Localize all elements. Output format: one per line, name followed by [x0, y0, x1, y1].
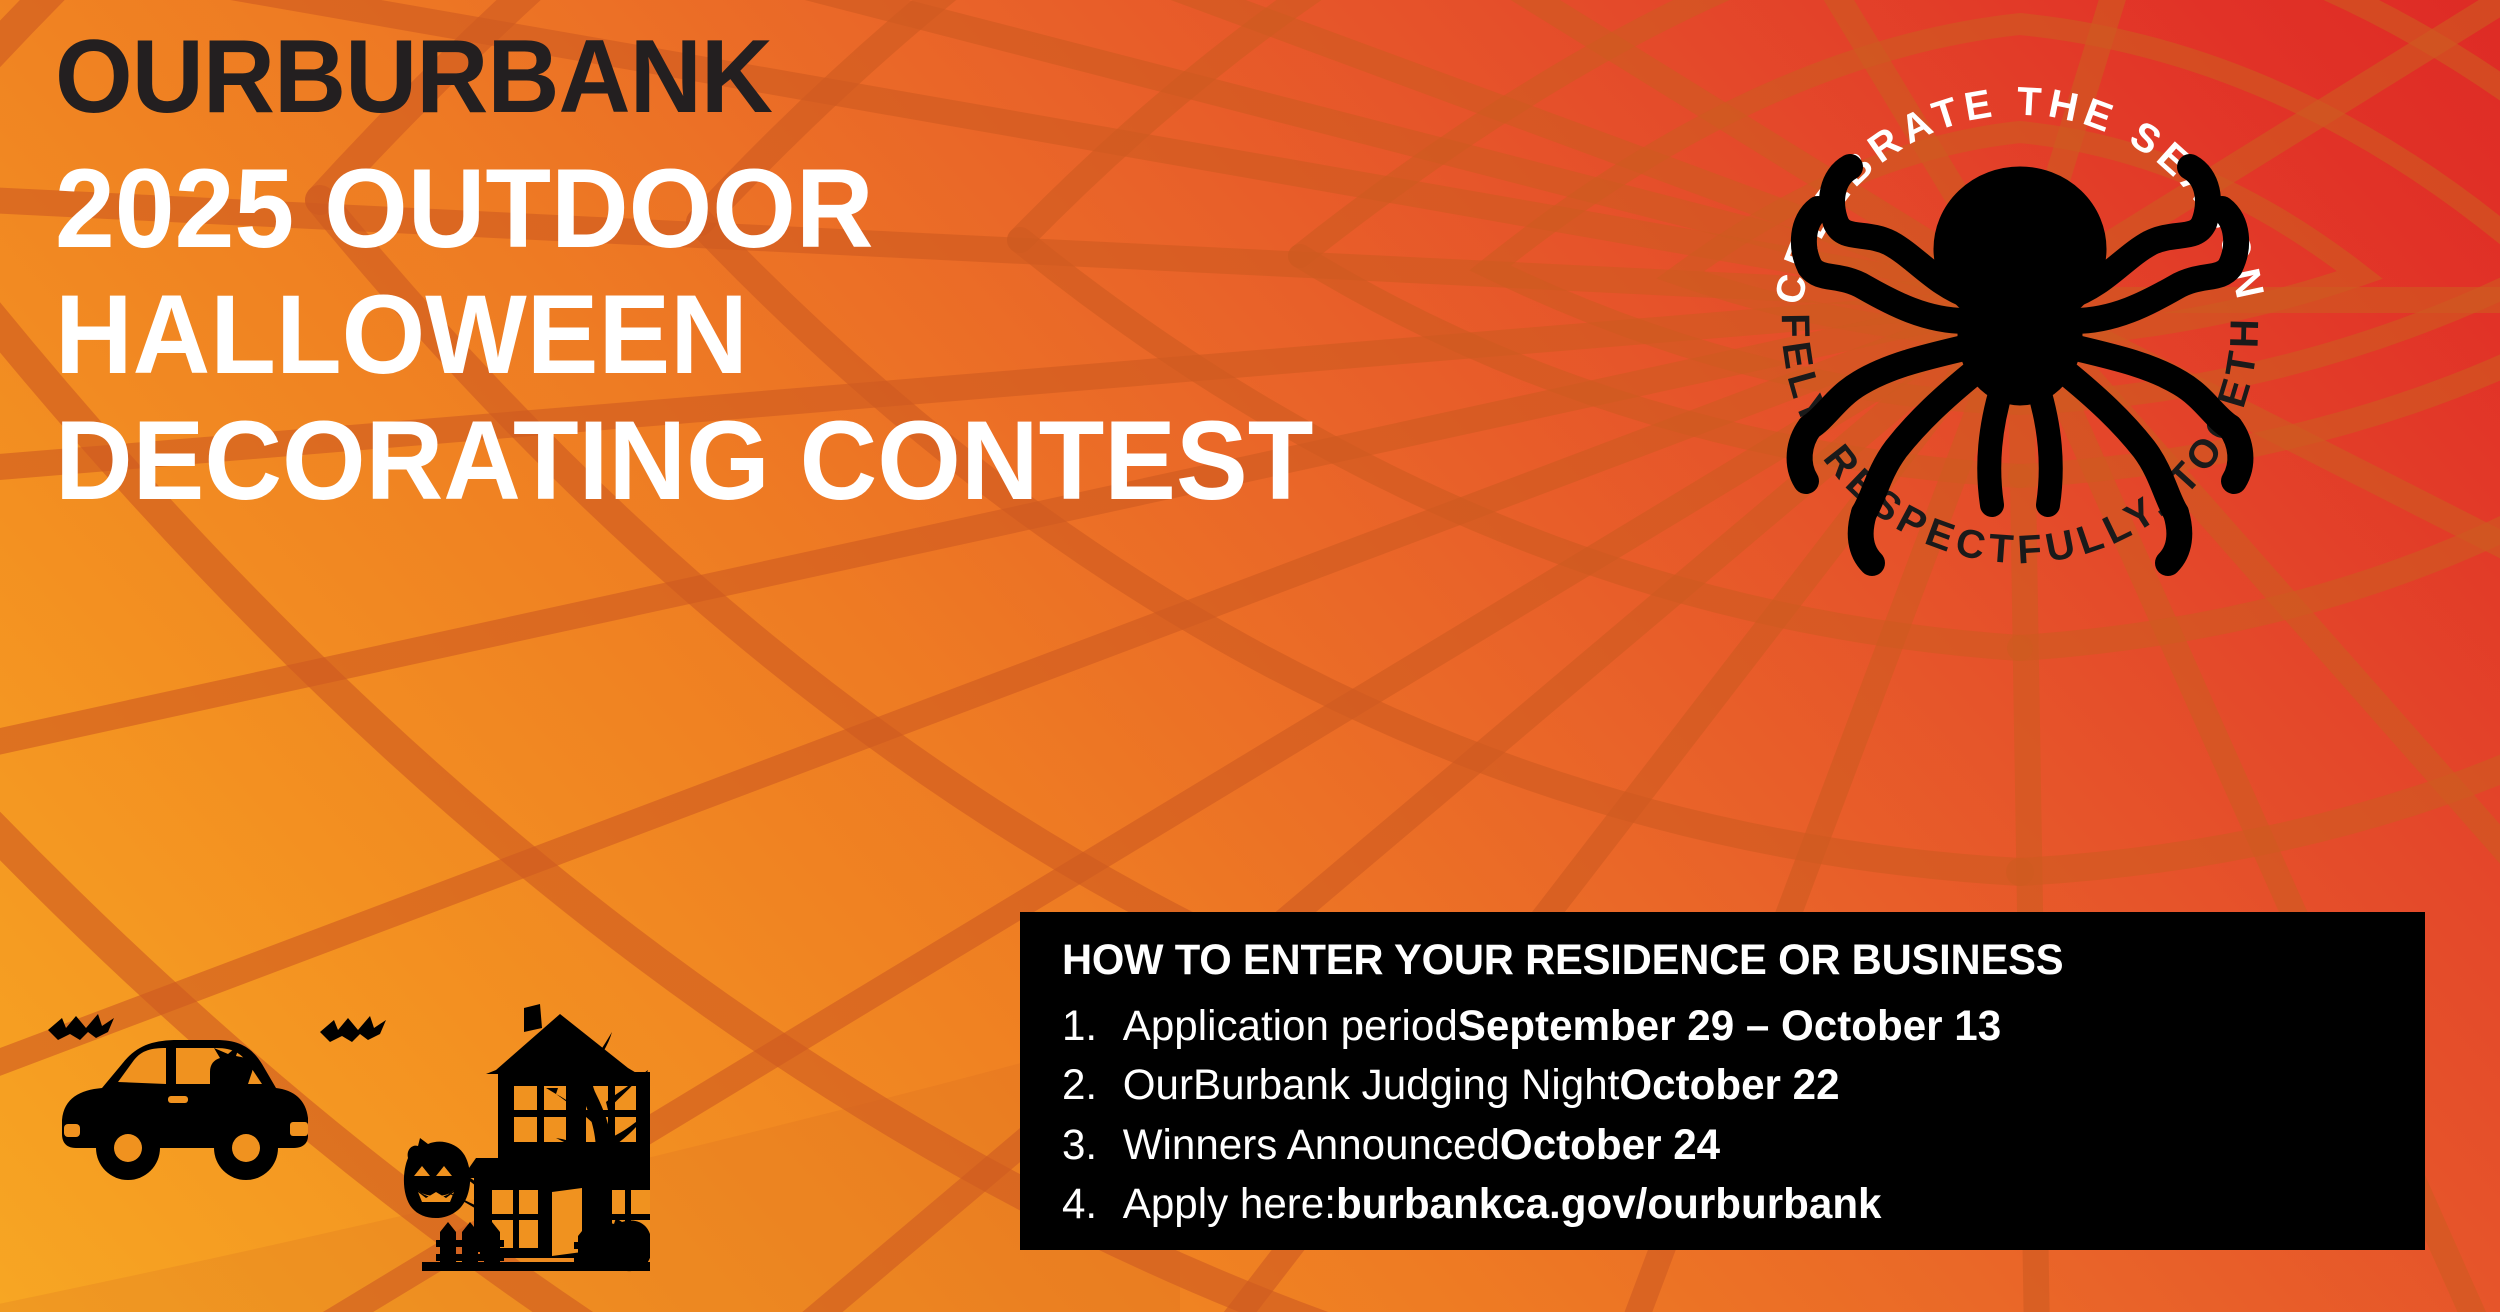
brand-title: OURBURBANK — [55, 22, 1687, 133]
bat-icon — [48, 1014, 114, 1040]
celebrate-the-season-badge: CELEBRATE THE SEASON SAFELY, RESPECTFULL… — [1740, 35, 2300, 595]
step-emphasis: October 24 — [1500, 1116, 1720, 1175]
list-item: 1. Application period September 29 – Oct… — [1062, 997, 2398, 1056]
step-number: 4. — [1062, 1175, 1123, 1234]
car-with-witch-icon — [62, 1040, 308, 1180]
how-to-enter-panel: HOW TO ENTER YOUR RESIDENCE OR BUSINESS … — [1020, 912, 2425, 1250]
list-item: 2. OurBurbank Judging Night October 22 — [1062, 1056, 2398, 1115]
list-item: 4. Apply here: burbankca.gov/ourburbank — [1062, 1175, 2398, 1234]
spider-icon — [1800, 167, 2241, 563]
pumpkin-icon — [603, 1218, 650, 1271]
fence-icon — [436, 1222, 504, 1264]
step-text: OurBurbank Judging Night — [1123, 1056, 1620, 1115]
haunted-house-icon — [462, 1004, 650, 1258]
step-emphasis: September 29 – October 13 — [1458, 997, 2001, 1056]
apply-url-link[interactable]: burbankca.gov/ourburbank — [1336, 1175, 1882, 1234]
step-number: 3. — [1062, 1116, 1123, 1175]
pumpkin-icon — [404, 1138, 470, 1218]
halloween-scene-illustration — [40, 952, 650, 1282]
list-item: 3. Winners Announced October 24 — [1062, 1116, 2398, 1175]
step-emphasis: October 22 — [1619, 1056, 1839, 1115]
step-text: Application period — [1123, 997, 1458, 1056]
headline-line-2: HALLOWEEN — [55, 275, 1687, 395]
step-text: Apply here: — [1123, 1175, 1336, 1234]
step-number: 2. — [1062, 1056, 1123, 1115]
headline-line-3: DECORATING CONTEST — [55, 401, 1687, 521]
step-text: Winners Announced — [1123, 1116, 1500, 1175]
headline-block: OURBURBANK 2025 OUTDOOR HALLOWEEN DECORA… — [55, 22, 1755, 527]
step-number: 1. — [1062, 997, 1123, 1056]
bat-icon — [320, 1016, 386, 1042]
halloween-contest-banner: OURBURBANK 2025 OUTDOOR HALLOWEEN DECORA… — [0, 0, 2500, 1312]
headline-line-1: 2025 OUTDOOR — [55, 149, 1687, 269]
info-panel-title: HOW TO ENTER YOUR RESIDENCE OR BUSINESS — [1062, 938, 2384, 983]
